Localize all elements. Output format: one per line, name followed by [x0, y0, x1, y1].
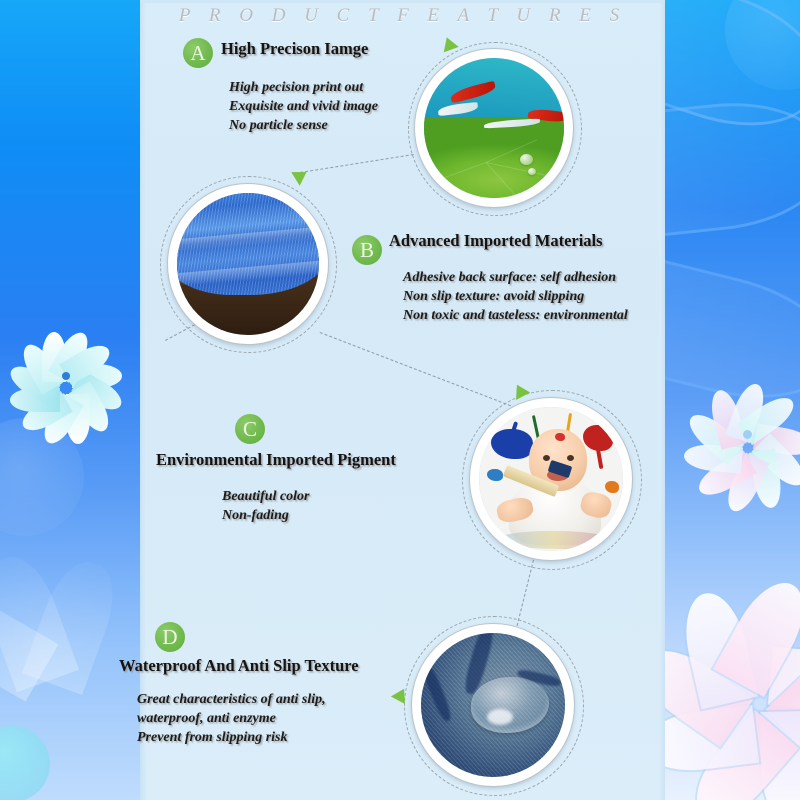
paint-splatter [605, 481, 619, 493]
water-drop-icon [520, 154, 533, 165]
body-b-line-2: Non slip texture: avoid slipping [403, 287, 628, 306]
photo-c [470, 398, 632, 560]
body-c-line-1: Beautiful color [222, 487, 310, 506]
panel-top-divider [140, 0, 665, 3]
badge-b: B [352, 235, 382, 265]
photo-a [415, 49, 573, 207]
photo-c-image [479, 407, 623, 551]
water-drop-icon [471, 677, 549, 733]
drop-highlight [487, 709, 513, 725]
right-bottom-flower-rosette [665, 560, 800, 790]
koi-fish-icon [449, 81, 497, 104]
koi-fish-icon [484, 119, 540, 129]
surface-streak [421, 663, 454, 723]
left-flower-rosette [8, 318, 124, 434]
flower-petal-icon [665, 96, 800, 239]
body-c: Beautiful color Non-fading [222, 487, 310, 525]
body-a-line-1: High pecision print out [229, 78, 378, 97]
photo-b [168, 184, 328, 344]
body-d-line-1: Great characteristics of anti slip, [137, 690, 326, 709]
heading-c: Environmental Imported Pigment [156, 450, 396, 470]
body-b-line-1: Adhesive back surface: self adhesion [403, 268, 628, 287]
koi-fish-icon [438, 102, 479, 116]
page-title: P R O D U C T F E A T U R E S [140, 5, 665, 27]
heading-b: Advanced Imported Materials [389, 231, 603, 251]
badge-d: D [155, 622, 185, 652]
left-decorative-band [0, 0, 140, 800]
body-d-line-3: Prevent from slipping risk [137, 728, 326, 747]
flower-center-icon [743, 430, 752, 439]
flower-center-icon [62, 372, 70, 380]
body-a-line-2: Exquisite and vivid image [229, 97, 378, 116]
product-features-poster: P R O D U C T F E A T U R E S A High Pre… [0, 0, 800, 800]
baby-eye [543, 455, 550, 461]
right-flower-rosette [683, 370, 800, 500]
heading-d: Waterproof And Anti Slip Texture [119, 656, 359, 676]
heading-a: High Precison Iamge [221, 39, 368, 59]
water-drop-icon [528, 168, 536, 175]
right-decorative-band [665, 0, 800, 800]
photo-d [412, 624, 574, 786]
body-b: Adhesive back surface: self adhesion Non… [403, 268, 628, 325]
body-d: Great characteristics of anti slip, wate… [137, 690, 326, 747]
body-a: High pecision print out Exquisite and vi… [229, 78, 378, 135]
leaf-vein [439, 162, 486, 180]
badge-c: C [235, 414, 265, 444]
photo-d-image [421, 633, 565, 777]
paint-splatter [487, 469, 503, 481]
body-b-line-3: Non toxic and tasteless: environmental [403, 306, 628, 325]
body-a-line-3: No particle sense [229, 116, 378, 135]
paint-splatter [499, 531, 609, 549]
leaf-vein [486, 162, 526, 198]
flower-blob-icon [0, 726, 50, 800]
baby-eye [567, 455, 574, 461]
body-d-line-2: waterproof, anti enzyme [137, 709, 326, 728]
badge-a: A [183, 38, 213, 68]
body-c-line-2: Non-fading [222, 506, 310, 525]
paint-splatter [555, 433, 565, 441]
photo-a-image [424, 58, 564, 198]
photo-b-image [177, 193, 319, 335]
